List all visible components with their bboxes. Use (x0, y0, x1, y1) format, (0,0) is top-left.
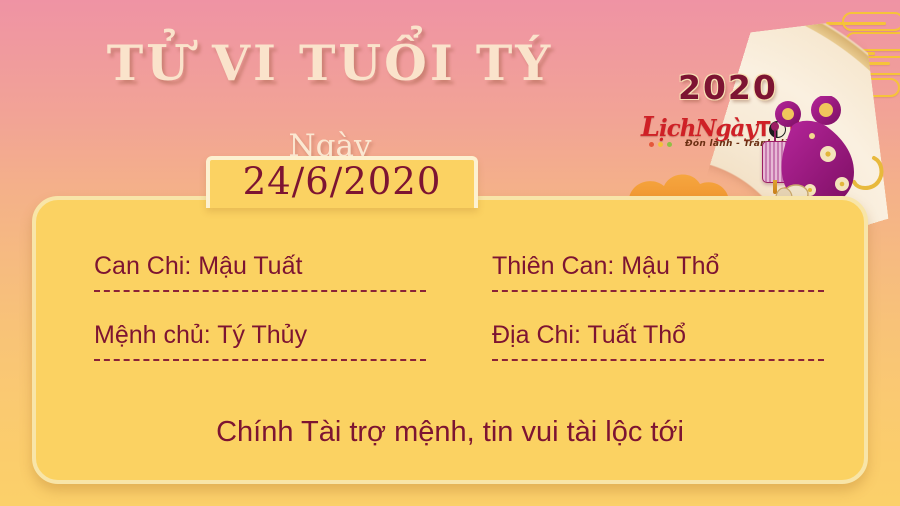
field-thien-can: Thiên Can: Mậu Thổ (492, 252, 824, 292)
year-badge: 2020 (678, 68, 778, 107)
horoscope-banner: 2020 LịchNgàyTT.com Đón lành - Tránh dữ (0, 0, 900, 506)
field-can-chi: Can Chi: Mậu Tuất (94, 252, 426, 292)
info-card: 24/6/2020 Can Chi: Mậu Tuất Mệnh chủ: Tý… (32, 196, 868, 484)
page-title: TỬ VI TUỔI TÝ (0, 34, 660, 92)
info-columns: Can Chi: Mậu Tuất Mệnh chủ: Tý Thủy Thiê… (36, 252, 864, 361)
fortune-tagline: Chính Tài trợ mệnh, tin vui tài lộc tới (36, 416, 864, 449)
logo-text-ngay: Ngày (695, 115, 756, 142)
date-value: 24/6/2020 (206, 158, 478, 206)
field-dia-chi: Địa Chi: Tuất Thổ (492, 321, 824, 361)
field-menh-chu: Mệnh chủ: Tý Thủy (94, 321, 426, 361)
logo-text-lich: ịch (659, 115, 695, 142)
info-column-left: Can Chi: Mậu Tuất Mệnh chủ: Tý Thủy (36, 252, 450, 361)
info-column-right: Thiên Can: Mậu Thổ Địa Chi: Tuất Thổ (450, 252, 864, 361)
